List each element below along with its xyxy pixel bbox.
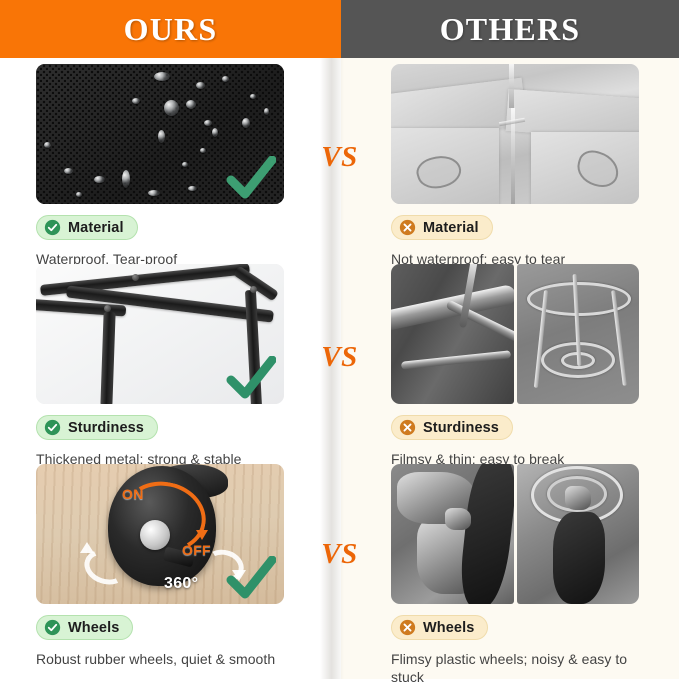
x-circle-icon bbox=[399, 219, 416, 236]
vs-marker-sturdiness: VS bbox=[0, 341, 679, 374]
vs-marker-material: VS bbox=[0, 141, 679, 174]
thin-tube-photo bbox=[391, 264, 514, 404]
check-circle-icon bbox=[44, 419, 61, 436]
others-wheels-badge: Wheels bbox=[391, 615, 488, 640]
header-others-cell: OTHERS bbox=[341, 0, 679, 58]
x-circle-icon bbox=[399, 619, 416, 636]
others-wheels-badge-label: Wheels bbox=[423, 620, 474, 636]
caster-rotation-label: 360° bbox=[164, 575, 198, 593]
ours-material-badge-label: Material bbox=[68, 220, 124, 236]
wire-stand-photo bbox=[517, 264, 640, 404]
others-material-badge-label: Material bbox=[423, 220, 479, 236]
others-sturdiness-badge-label: Sturdiness bbox=[423, 420, 499, 436]
others-wheels-image bbox=[391, 464, 639, 604]
others-sturdiness-image bbox=[391, 264, 639, 404]
ours-wheels-image: ON OFF 360° bbox=[36, 464, 284, 604]
ours-sturdiness-image bbox=[36, 264, 284, 404]
comparison-infographic: OURS OTHERS bbox=[0, 0, 679, 679]
others-material-badge: Material bbox=[391, 215, 493, 240]
ours-sturdiness-badge-label: Sturdiness bbox=[68, 420, 144, 436]
check-circle-icon bbox=[44, 219, 61, 236]
caster-on-label: ON bbox=[122, 486, 144, 502]
comparison-header: OURS OTHERS bbox=[0, 0, 679, 58]
check-circle-icon bbox=[44, 619, 61, 636]
ours-material-image bbox=[36, 64, 284, 204]
dual-photo-pair bbox=[391, 264, 639, 404]
header-ours-title: OURS bbox=[124, 11, 218, 48]
header-others-title: OTHERS bbox=[440, 11, 581, 48]
others-sturdiness-badge: Sturdiness bbox=[391, 415, 513, 440]
others-material-image bbox=[391, 64, 639, 204]
x-circle-icon bbox=[399, 419, 416, 436]
ours-wheels-badge: Wheels bbox=[36, 615, 133, 640]
dual-photo-pair bbox=[391, 464, 639, 604]
ours-sturdiness-badge: Sturdiness bbox=[36, 415, 158, 440]
header-ours-cell: OURS bbox=[0, 0, 341, 58]
vs-marker-wheels: VS bbox=[0, 538, 679, 571]
others-wheels-description: Flimsy plastic wheels; noisy & easy to s… bbox=[391, 651, 639, 686]
wheel-hub-photo bbox=[517, 464, 640, 604]
wheel-hardware-photo bbox=[391, 464, 514, 604]
ours-wheels-description: Robust rubber wheels, quiet & smooth bbox=[36, 651, 284, 669]
ours-material-badge: Material bbox=[36, 215, 138, 240]
ours-wheels-badge-label: Wheels bbox=[68, 620, 119, 636]
